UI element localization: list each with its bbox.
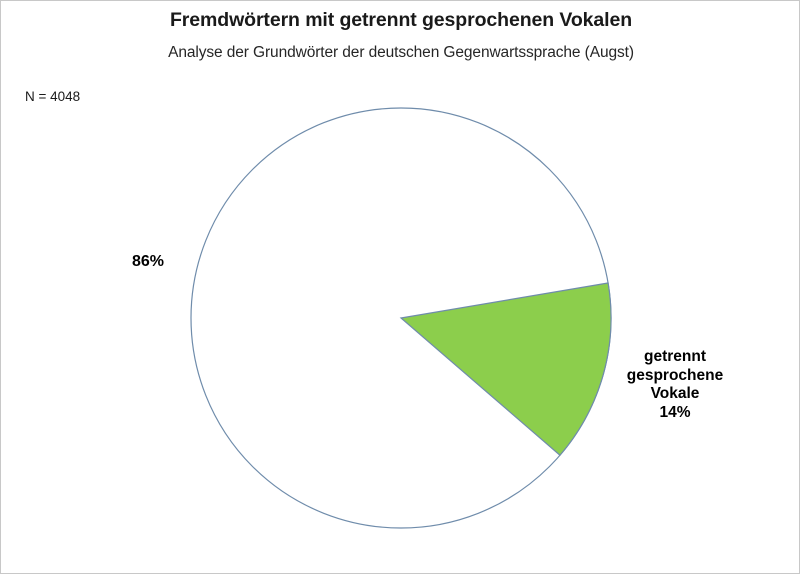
pie-label-minor-line-1: getrennt	[615, 348, 735, 367]
pie-label-minor-line-2: gesprochene	[615, 367, 735, 386]
pie-label-minor: getrennt gesprochene Vokale 14%	[615, 348, 735, 422]
pie-chart-canvas: Fremdwörtern mit getrennt gesprochenen V…	[0, 0, 800, 574]
pie-label-major: 86%	[132, 253, 164, 271]
pie-label-minor-line-3: Vokale	[615, 385, 735, 404]
pie-label-minor-line-4: 14%	[615, 404, 735, 423]
pie-graphic	[1, 1, 800, 574]
